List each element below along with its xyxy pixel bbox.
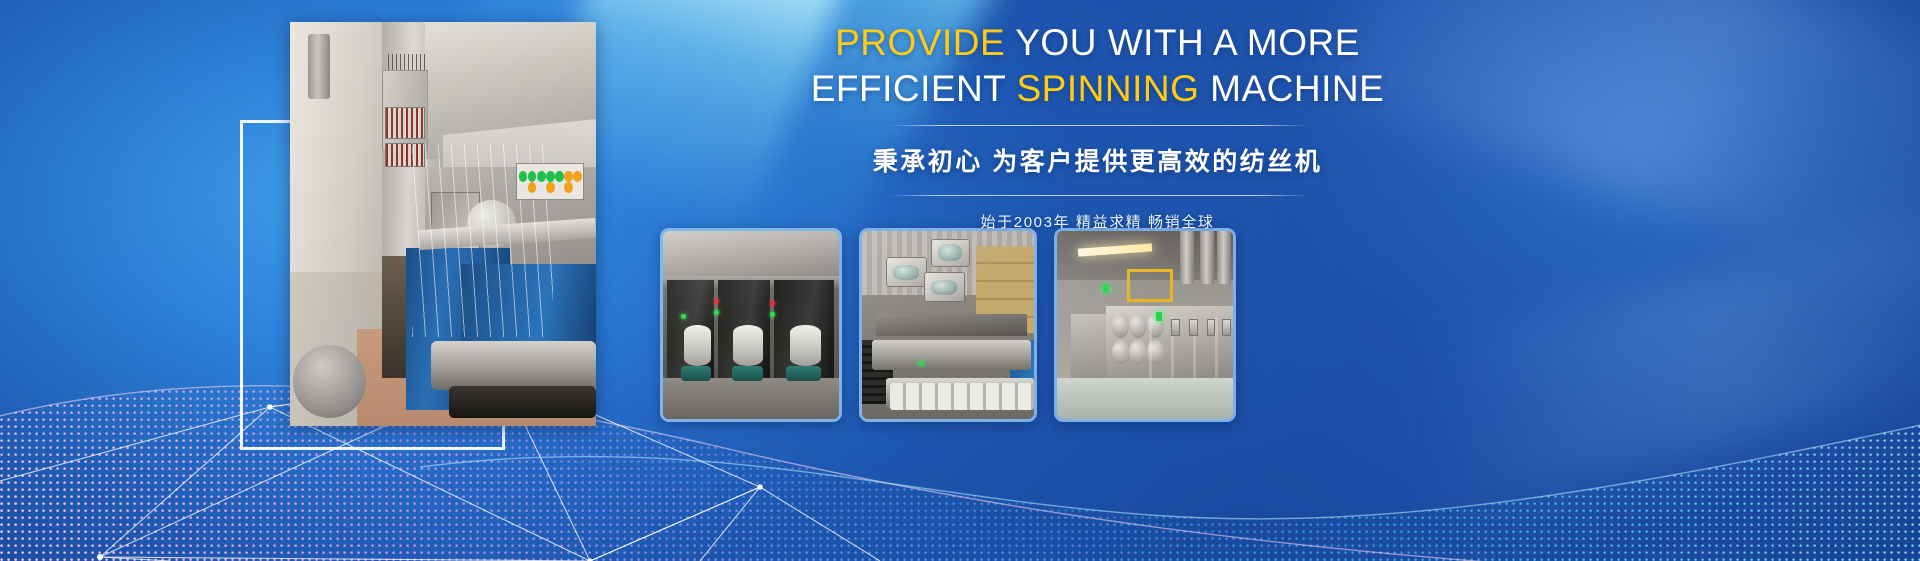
thumbnail-scene [862,231,1034,419]
banner-text-block: PROVIDE YOU WITH A MORE EFFICIENT SPINNI… [645,24,1550,232]
photo-scene [290,22,596,426]
banner-subtitle: 秉承初心 为客户提供更高效的纺丝机 [645,142,1550,178]
thumbnail-production-line[interactable] [1054,228,1236,422]
divider-top [888,125,1308,126]
spinning-machine-workshop-photo [290,22,596,426]
machine-control-panel [516,163,583,199]
divider-bottom [888,195,1308,196]
headline-accent-provide: PROVIDE [835,22,1005,63]
headline-line2-rest: MACHINE [1199,68,1384,109]
headline-accent-spinning: SPINNING [1017,68,1200,109]
thumbnail-scene [663,231,839,419]
thumbnail-scene [1057,231,1233,419]
hero-banner: PROVIDE YOU WITH A MORE EFFICIENT SPINNI… [0,0,1920,561]
banner-headline: PROVIDE YOU WITH A MORE EFFICIENT SPINNI… [645,24,1550,107]
banner-tagline: 始于2003年 精益求精 畅销全球 [645,211,1550,232]
thumbnail-stainless-spinneret[interactable] [859,228,1037,422]
thumbnail-dark-winders[interactable] [660,228,842,422]
headline-line1-rest: YOU WITH A MORE [1005,22,1360,63]
headline-line2-pre: EFFICIENT [811,68,1017,109]
